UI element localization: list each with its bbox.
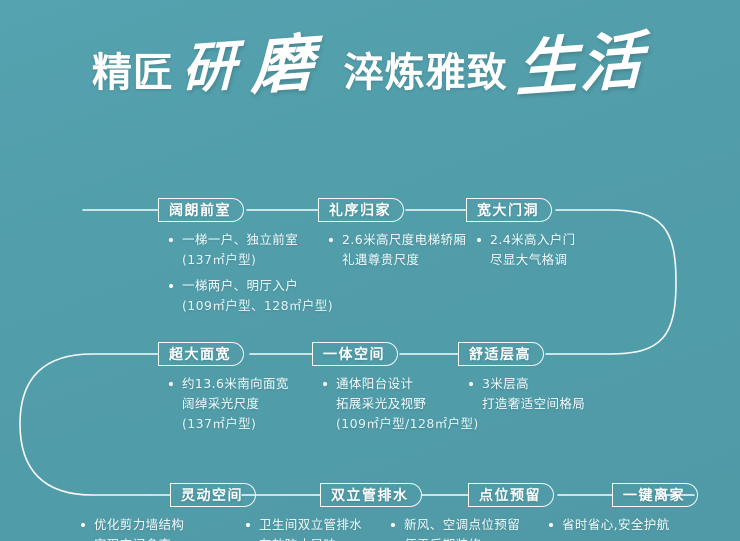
- bullet-line: 一梯两户、明厅入户: [182, 276, 333, 296]
- label-row1-item2[interactable]: 礼序归家: [318, 198, 404, 222]
- label-row1-item3[interactable]: 宽大门洞: [466, 198, 552, 222]
- content-row3-item1: 优化剪力墙结构 实现空间多变: [80, 515, 184, 541]
- bullet-line: 一梯一户、独立前室: [182, 230, 333, 250]
- list-item: 优化剪力墙结构 实现空间多变: [80, 515, 184, 541]
- bullet-line: 打造奢适空间格局: [482, 394, 585, 414]
- bullet-line: (137㎡户型): [182, 414, 289, 434]
- title-segment-4: 淬炼雅致: [344, 53, 508, 93]
- list-item: 一梯两户、明厅入户 (109㎡户型、128㎡户型): [168, 276, 333, 316]
- list-item: 一梯一户、独立前室 (137㎡户型): [168, 230, 333, 270]
- bullet-line: 礼遇尊贵尺度: [342, 250, 466, 270]
- label-row3-item3[interactable]: 点位预留: [468, 483, 554, 507]
- list-item: 省时省心,安全护航: [548, 515, 670, 535]
- bullet-line: (137㎡户型): [182, 250, 333, 270]
- rail-left-u: [20, 354, 158, 495]
- bullet-line: 拓展采光及视野: [336, 394, 479, 414]
- content-row1-item1: 一梯一户、独立前室 (137㎡户型) 一梯两户、明厅入户 (109㎡户型、128…: [168, 230, 333, 316]
- title-segment-5: 生活: [516, 29, 645, 100]
- bullet-line: 省时省心,安全护航: [562, 515, 670, 535]
- bullet-line: 2.6米高尺度电梯轿厢: [342, 230, 466, 250]
- page-title: 精匠 研 磨 淬炼雅致 生活: [0, 34, 740, 96]
- list-item: 卫生间双立管排水 有效防止异味: [245, 515, 362, 541]
- content-row3-item2: 卫生间双立管排水 有效防止异味: [245, 515, 362, 541]
- content-row1-item3: 2.4米高入户门 尽显大气格调: [476, 230, 576, 270]
- list-item: 通体阳台设计 拓展采光及视野 (109㎡户型/128㎡户型): [322, 374, 479, 434]
- content-row1-item2: 2.6米高尺度电梯轿厢 礼遇尊贵尺度: [328, 230, 466, 270]
- content-row2-item1: 约13.6米南向面宽 阔绰采光尺度 (137㎡户型): [168, 374, 289, 434]
- list-item: 3米层高 打造奢适空间格局: [468, 374, 585, 414]
- bullet-line: 有效防止异味: [259, 535, 362, 541]
- label-row1-item1[interactable]: 阔朗前室: [158, 198, 244, 222]
- bullet-line: 2.4米高入户门: [490, 230, 576, 250]
- title-segment-2: 研: [182, 38, 239, 96]
- content-row3-item3: 新风、空调点位预留 便于后期装修: [390, 515, 520, 541]
- title-segment-3: 磨: [250, 32, 315, 99]
- bullet-line: (109㎡户型、128㎡户型): [182, 296, 333, 316]
- content-row2-item2: 通体阳台设计 拓展采光及视野 (109㎡户型/128㎡户型): [322, 374, 479, 434]
- bullet-line: 便于后期装修: [404, 535, 520, 541]
- bullet-line: (109㎡户型/128㎡户型): [336, 414, 479, 434]
- bullet-line: 通体阳台设计: [336, 374, 479, 394]
- bullet-line: 新风、空调点位预留: [404, 515, 520, 535]
- list-item: 约13.6米南向面宽 阔绰采光尺度 (137㎡户型): [168, 374, 289, 434]
- bullet-line: 约13.6米南向面宽: [182, 374, 289, 394]
- poster-root: 精匠 研 磨 淬炼雅致 生活: [0, 0, 740, 541]
- label-row2-item1[interactable]: 超大面宽: [158, 342, 244, 366]
- bullet-line: 阔绰采光尺度: [182, 394, 289, 414]
- bullet-line: 尽显大气格调: [490, 250, 576, 270]
- label-row3-item4[interactable]: 一键离家: [612, 483, 698, 507]
- label-row2-item3[interactable]: 舒适层高: [458, 342, 544, 366]
- bullet-line: 3米层高: [482, 374, 585, 394]
- content-row3-item4: 省时省心,安全护航: [548, 515, 670, 535]
- bullet-line: 卫生间双立管排水: [259, 515, 362, 535]
- list-item: 新风、空调点位预留 便于后期装修: [390, 515, 520, 541]
- list-item: 2.6米高尺度电梯轿厢 礼遇尊贵尺度: [328, 230, 466, 270]
- title-segment-1: 精匠: [92, 53, 174, 93]
- label-row3-item1[interactable]: 灵动空间: [170, 483, 256, 507]
- list-item: 2.4米高入户门 尽显大气格调: [476, 230, 576, 270]
- bullet-line: 优化剪力墙结构: [94, 515, 184, 535]
- label-row3-item2[interactable]: 双立管排水: [320, 483, 422, 507]
- bullet-line: 实现空间多变: [94, 535, 184, 541]
- content-row2-item3: 3米层高 打造奢适空间格局: [468, 374, 585, 414]
- label-row2-item2[interactable]: 一体空间: [312, 342, 398, 366]
